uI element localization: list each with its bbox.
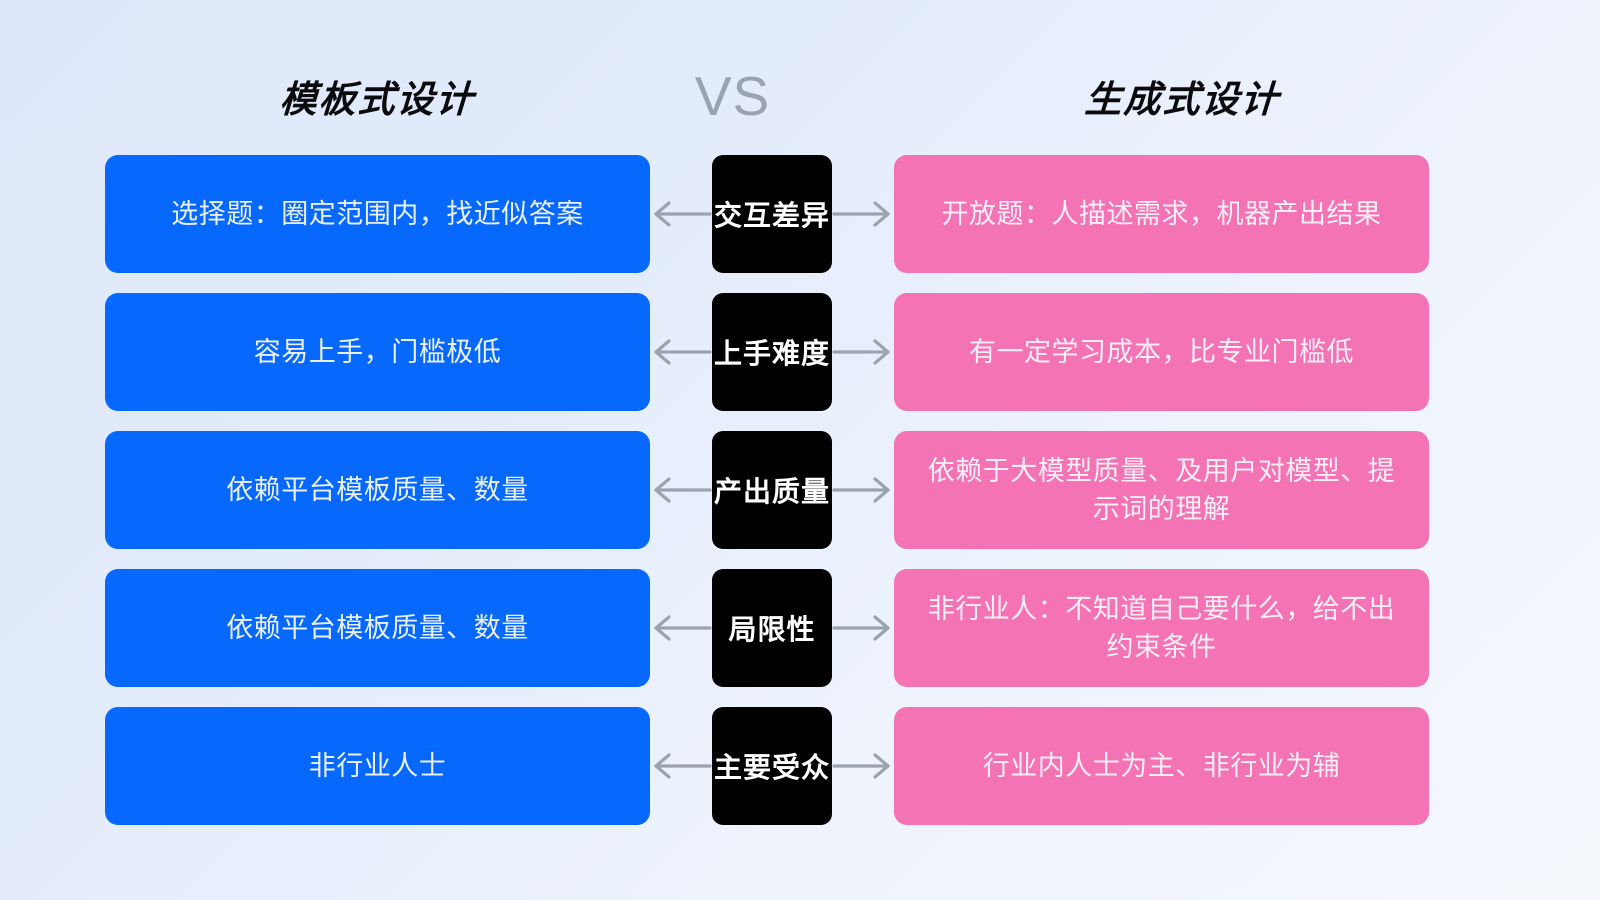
template-design-card[interactable]: 容易上手，门槛极低 xyxy=(105,293,650,411)
template-design-card[interactable]: 依赖平台模板质量、数量 xyxy=(105,569,650,687)
generative-design-card[interactable]: 有一定学习成本，比专业门槛低 xyxy=(894,293,1429,411)
criterion-label[interactable]: 上手难度 xyxy=(712,293,832,411)
generative-design-card[interactable]: 依赖于大模型质量、及用户对模型、提示词的理解 xyxy=(894,431,1429,549)
comparison-row: 选择题：圈定范围内，找近似答案交互差异开放题：人描述需求，机器产出结果 xyxy=(0,155,1600,273)
arrow-right-icon xyxy=(832,431,894,549)
comparison-board: 模板式设计 VS 生成式设计 选择题：圈定范围内，找近似答案交互差异开放题：人描… xyxy=(0,0,1600,900)
comparison-row: 依赖平台模板质量、数量产出质量依赖于大模型质量、及用户对模型、提示词的理解 xyxy=(0,431,1600,549)
vs-label: VS xyxy=(695,69,770,124)
arrow-left-icon xyxy=(650,569,712,687)
template-design-card[interactable]: 依赖平台模板质量、数量 xyxy=(105,431,650,549)
criterion-label[interactable]: 产出质量 xyxy=(712,431,832,549)
comparison-row: 依赖平台模板质量、数量局限性非行业人：不知道自己要什么，给不出约束条件 xyxy=(0,569,1600,687)
generative-design-card[interactable]: 非行业人：不知道自己要什么，给不出约束条件 xyxy=(894,569,1429,687)
criterion-label[interactable]: 主要受众 xyxy=(712,707,832,825)
template-design-card[interactable]: 非行业人士 xyxy=(105,707,650,825)
criterion-label[interactable]: 局限性 xyxy=(712,569,832,687)
arrow-right-icon xyxy=(832,707,894,825)
arrow-right-icon xyxy=(832,293,894,411)
arrow-left-icon xyxy=(650,155,712,273)
header-center: VS xyxy=(650,69,815,124)
right-column-title: 生成式设计 xyxy=(1084,69,1282,123)
arrow-left-icon xyxy=(650,293,712,411)
comparison-row: 容易上手，门槛极低上手难度有一定学习成本，比专业门槛低 xyxy=(0,293,1600,411)
generative-design-card[interactable]: 行业内人士为主、非行业为辅 xyxy=(894,707,1429,825)
arrow-left-icon xyxy=(650,431,712,549)
comparison-rows: 选择题：圈定范围内，找近似答案交互差异开放题：人描述需求，机器产出结果容易上手，… xyxy=(0,155,1600,845)
arrow-left-icon xyxy=(650,707,712,825)
comparison-row: 非行业人士主要受众行业内人士为主、非行业为辅 xyxy=(0,707,1600,825)
generative-design-card[interactable]: 开放题：人描述需求，机器产出结果 xyxy=(894,155,1429,273)
template-design-card[interactable]: 选择题：圈定范围内，找近似答案 xyxy=(105,155,650,273)
arrow-right-icon xyxy=(832,155,894,273)
criterion-label[interactable]: 交互差异 xyxy=(712,155,832,273)
arrow-right-icon xyxy=(832,569,894,687)
header-right: 生成式设计 xyxy=(910,69,1455,123)
left-column-title: 模板式设计 xyxy=(279,69,477,123)
header-row: 模板式设计 VS 生成式设计 xyxy=(0,56,1600,136)
header-left: 模板式设计 xyxy=(105,69,650,123)
